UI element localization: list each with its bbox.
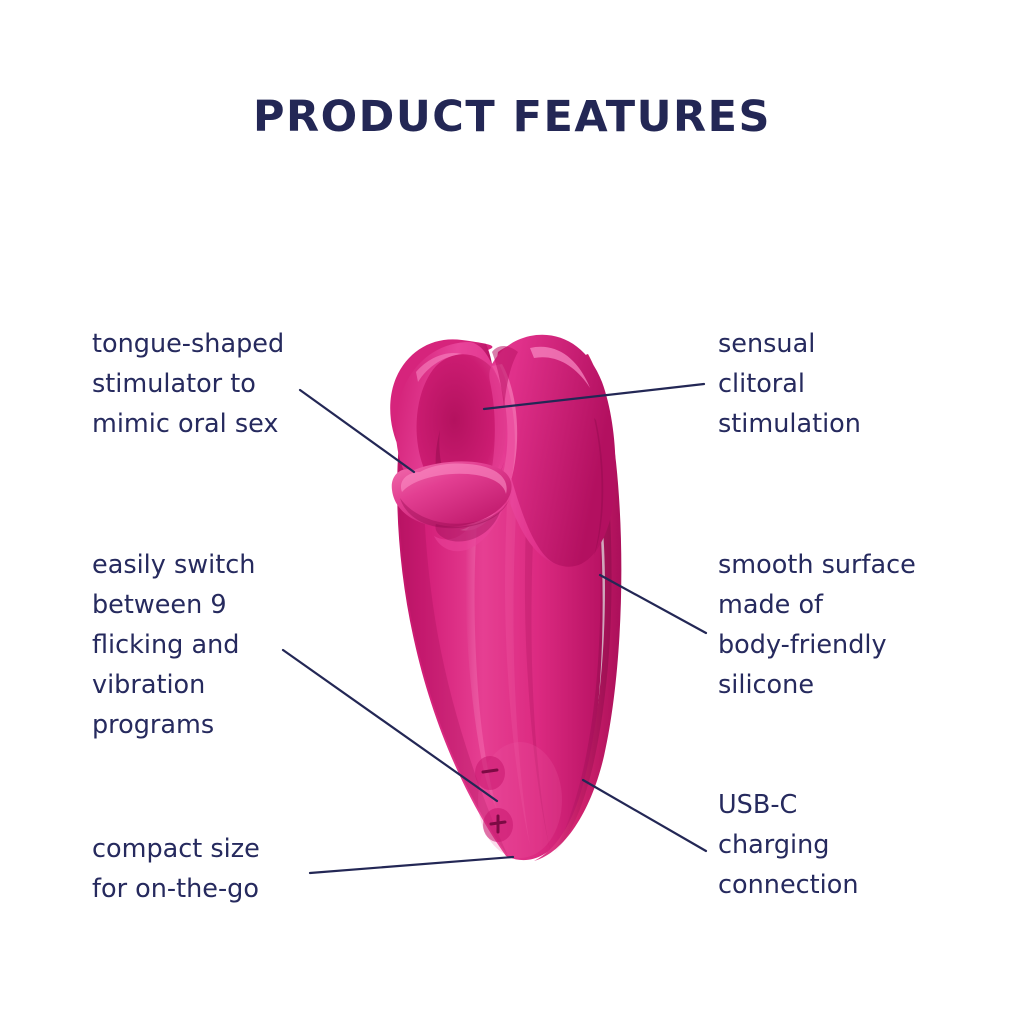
callout-line: programs bbox=[92, 705, 255, 745]
callout-line: mimic oral sex bbox=[92, 404, 284, 444]
callout-compact-size: compact size for on-the-go bbox=[92, 829, 260, 909]
callout-line: stimulator to bbox=[92, 364, 284, 404]
callout-line: tongue-shaped bbox=[92, 324, 284, 364]
callout-line: connection bbox=[718, 865, 859, 905]
callout-line: easily switch bbox=[92, 545, 255, 585]
product-features-infographic: PRODUCT FEATURES bbox=[0, 0, 1024, 1024]
callout-line: charging bbox=[718, 825, 859, 865]
callout-sensual-clitoral-stimulation: sensual clitoral stimulation bbox=[718, 324, 861, 444]
callout-line: for on-the-go bbox=[92, 869, 260, 909]
callout-line: body-friendly bbox=[718, 625, 916, 665]
minus-glyph bbox=[483, 770, 497, 772]
callout-line: flicking and bbox=[92, 625, 255, 665]
callout-line: USB-C bbox=[718, 785, 859, 825]
callout-flicking-vibration-programs: easily switch between 9 flicking and vib… bbox=[92, 545, 255, 745]
callout-usb-c-charging: USB-C charging connection bbox=[718, 785, 859, 905]
callout-line: made of bbox=[718, 585, 916, 625]
callout-line: clitoral bbox=[718, 364, 861, 404]
callout-line: compact size bbox=[92, 829, 260, 869]
decrease-button[interactable] bbox=[475, 756, 505, 790]
callout-line: smooth surface bbox=[718, 545, 916, 585]
callout-line: vibration bbox=[92, 665, 255, 705]
callout-line: sensual bbox=[718, 324, 861, 364]
callout-smooth-silicone-surface: smooth surface made of body-friendly sil… bbox=[718, 545, 916, 705]
callout-line: stimulation bbox=[718, 404, 861, 444]
callout-tongue-shaped-stimulator: tongue-shaped stimulator to mimic oral s… bbox=[92, 324, 284, 444]
callout-line: between 9 bbox=[92, 585, 255, 625]
callout-line: silicone bbox=[718, 665, 916, 705]
